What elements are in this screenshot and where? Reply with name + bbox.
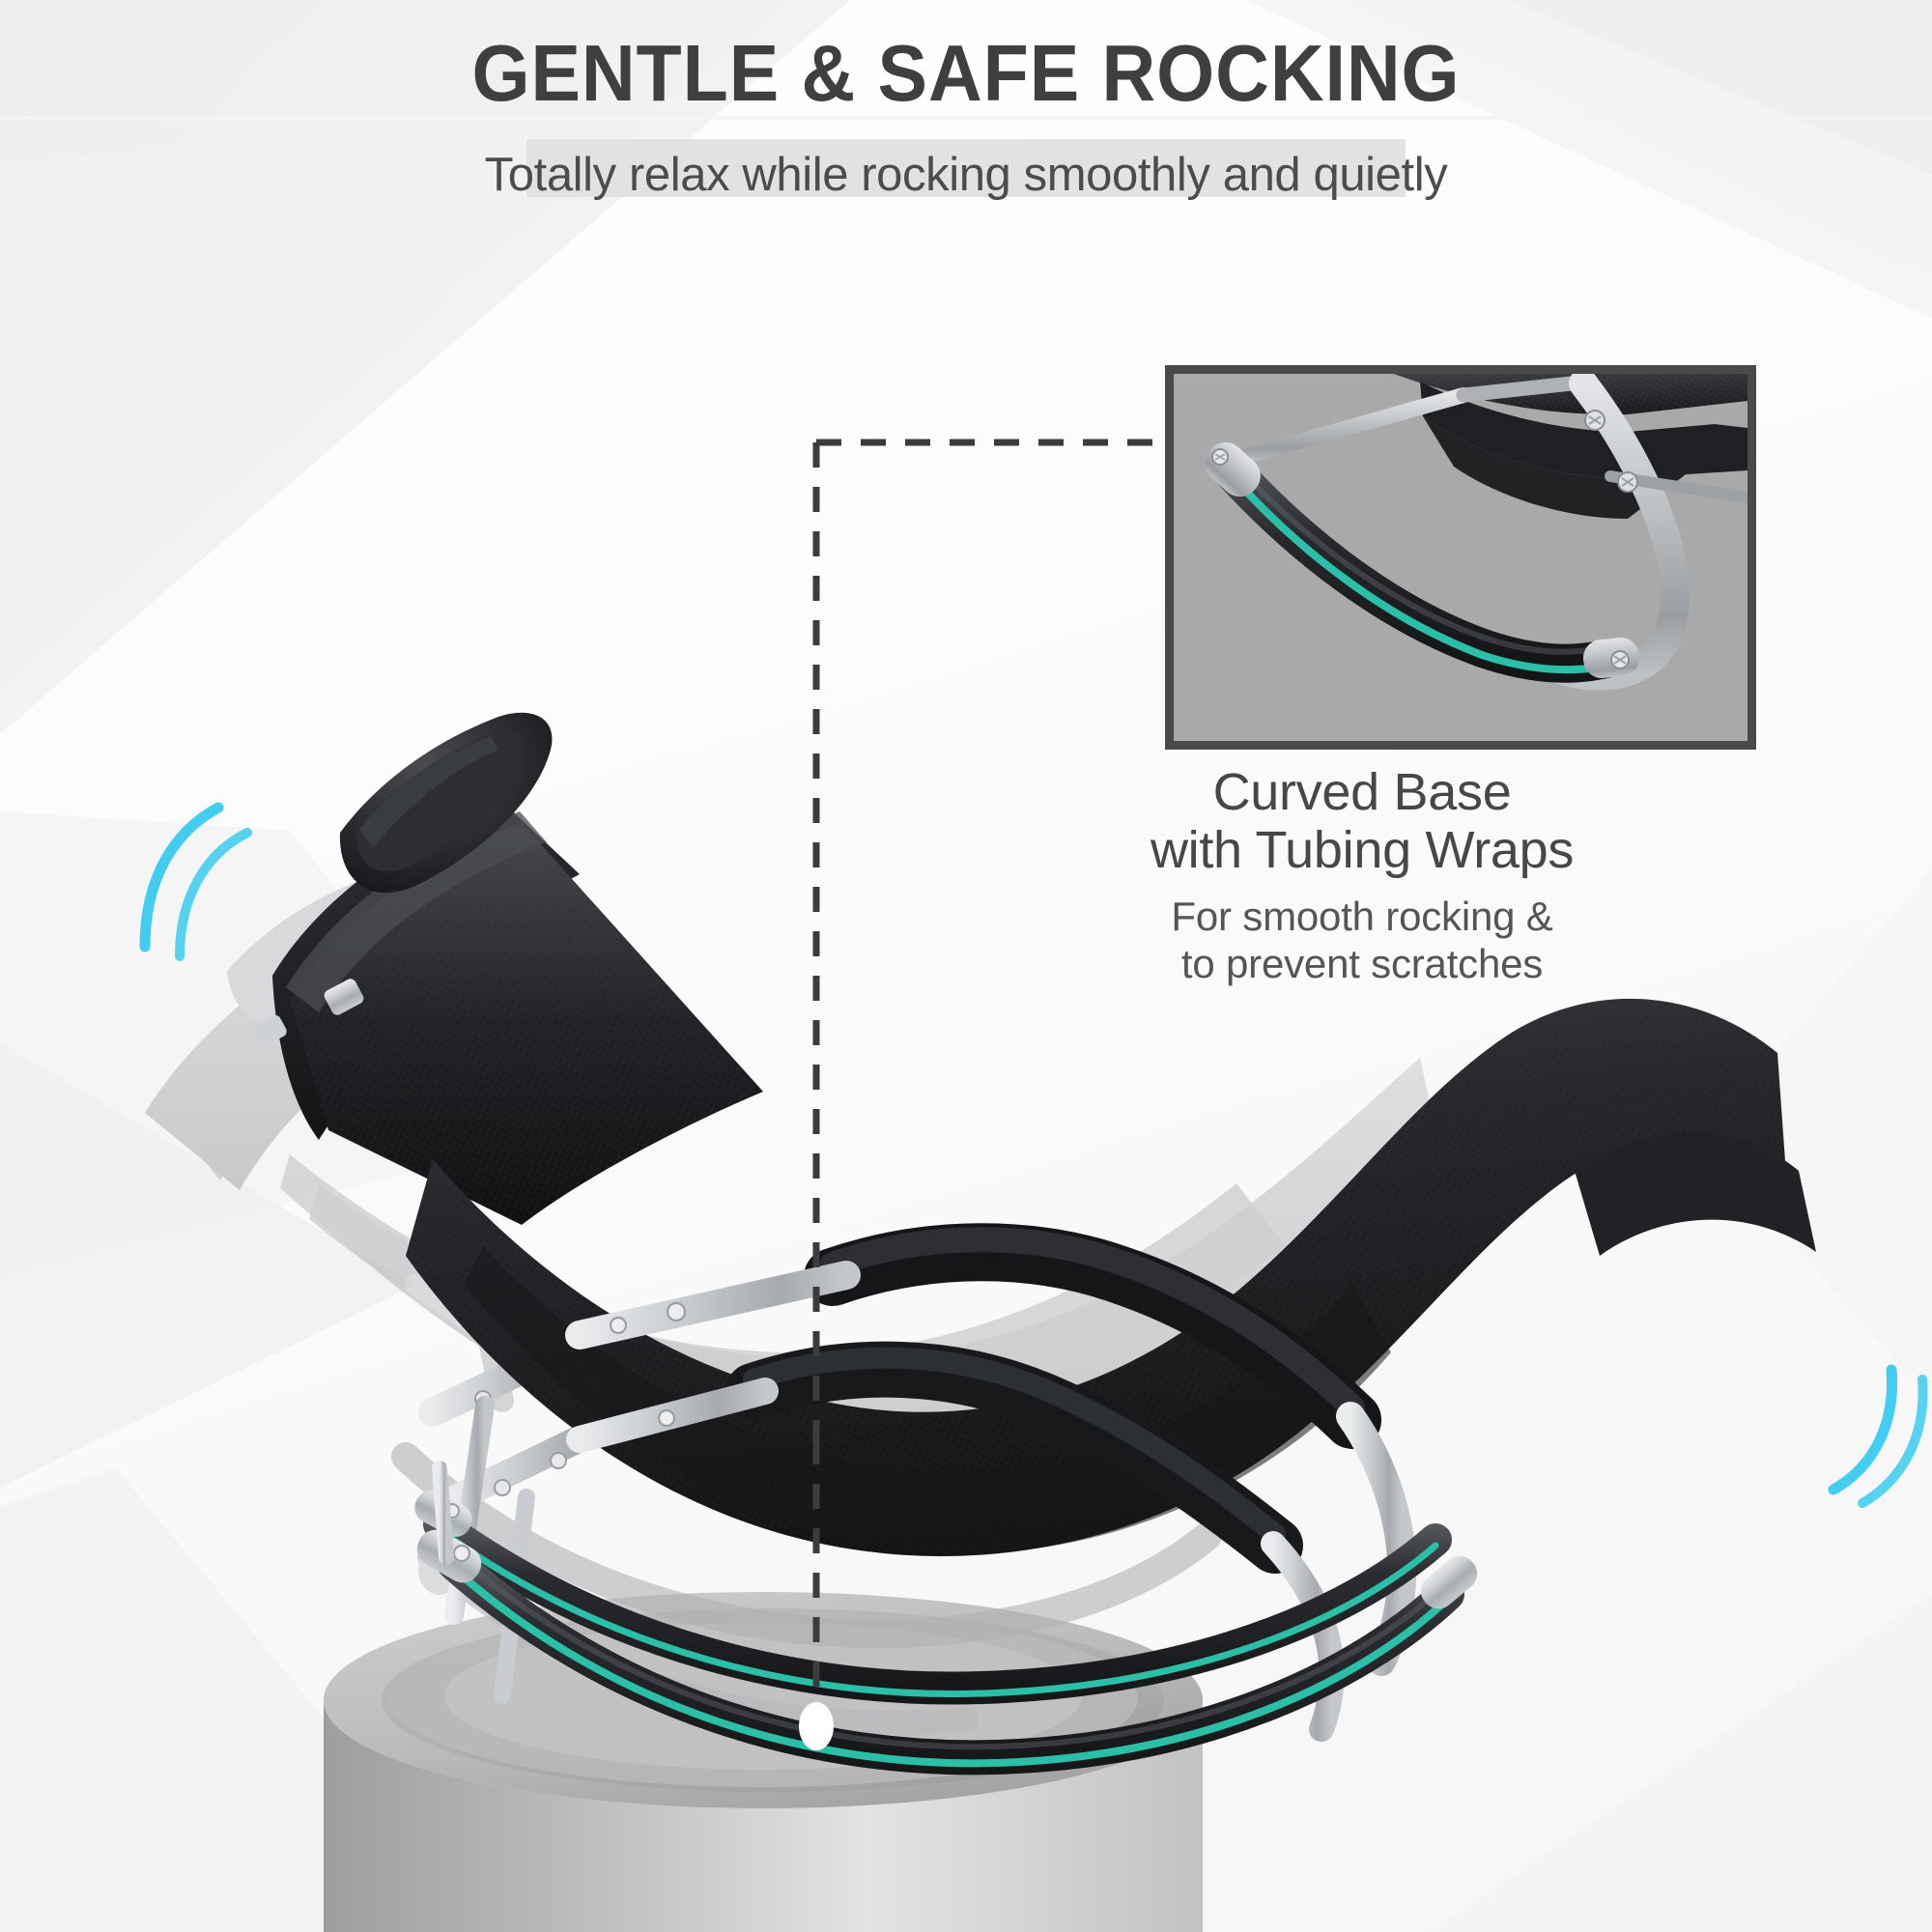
page-subtitle: Totally relax while rocking smoothly and…: [0, 113, 1932, 202]
detail-inset-frame: [1165, 365, 1756, 750]
page-title: GENTLE & SAFE ROCKING: [68, 33, 1864, 113]
motion-arcs-right-icon: [1833, 1370, 1923, 1503]
motion-arcs-left-icon: [145, 808, 247, 956]
callout-title-line1: Curved Base: [966, 763, 1758, 821]
callout-text-block: Curved Base with Tubing Wraps For smooth…: [966, 763, 1758, 987]
callout-sub-line1: For smooth rocking &: [966, 879, 1758, 940]
infographic-canvas: GENTLE & SAFE ROCKING Totally relax whil…: [0, 0, 1932, 1932]
callout-title-line2: with Tubing Wraps: [966, 821, 1758, 879]
title-block: GENTLE & SAFE ROCKING Totally relax whil…: [0, 33, 1932, 202]
callout-sub-line2: to prevent scratches: [966, 940, 1758, 987]
